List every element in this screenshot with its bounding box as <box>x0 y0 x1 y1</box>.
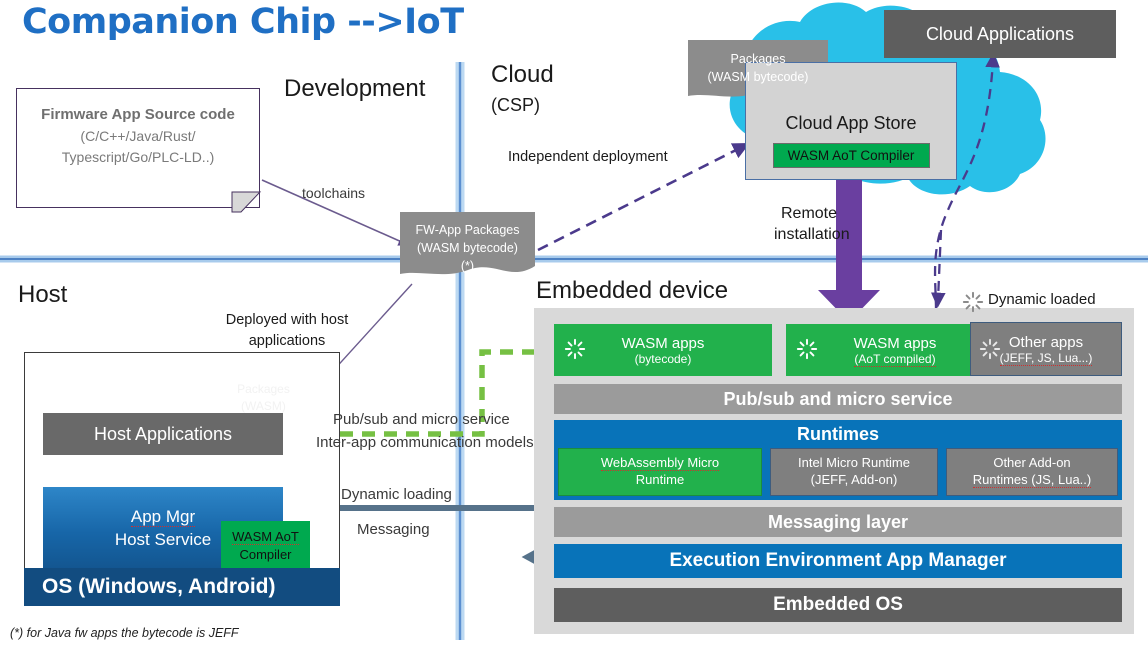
runtime-line1: Other Add-on <box>993 455 1070 472</box>
arrow-remote-installation <box>818 176 880 322</box>
embedded-app-sub: (AoT compiled) <box>854 352 935 366</box>
host-os-bar: OS (Windows, Android) <box>24 568 340 606</box>
embedded-messaging-layer-label: Messaging layer <box>768 512 908 533</box>
label-deployed-with-host-applications: Deployed with host applications <box>221 310 353 352</box>
label-dynamic-loading: Dynamic loading <box>341 486 452 503</box>
fw-packages-line1: FW-App Packages <box>400 221 535 239</box>
host-wasm-aot-compiler[interactable]: WASM AoT Compiler <box>221 521 310 571</box>
host-os-label: OS (Windows, Android) <box>42 575 276 599</box>
cloud-applications-box[interactable]: Cloud Applications <box>884 10 1116 58</box>
zone-label-cloud: Cloud <box>491 61 554 89</box>
embedded-app-sub: (JEFF, JS, Lua...) <box>1000 351 1093 365</box>
fw-packages-line3: (*) <box>400 257 535 275</box>
embedded-pubsub-label: Pub/sub and micro service <box>723 389 952 410</box>
dynamic-loaded-icon <box>979 338 1001 360</box>
host-app-mgr-line1: App Mgr <box>131 506 195 529</box>
embedded-app-name: WASM apps <box>854 335 937 352</box>
host-packages-line1: Packages <box>206 381 321 398</box>
embedded-app-manager-label: Execution Environment App Manager <box>669 550 1006 572</box>
embedded-runtimes-block: Runtimes WebAssembly Micro Runtime Intel… <box>554 420 1122 500</box>
host-aot-line1: WASM AoT <box>232 528 299 546</box>
cloud-wasm-aot-compiler-label: WASM AoT Compiler <box>788 148 915 163</box>
runtime-line2: Runtimes (JS, Lua..) <box>973 472 1092 489</box>
embedded-runtime-wamr[interactable]: WebAssembly Micro Runtime <box>558 448 762 496</box>
label-independent-deployment: Independent deployment <box>508 149 668 165</box>
embedded-app-name: WASM apps <box>622 335 705 352</box>
zone-label-host: Host <box>18 281 67 309</box>
embedded-runtime-other[interactable]: Other Add-on Runtimes (JS, Lua..) <box>946 448 1118 496</box>
embedded-app-manager[interactable]: Execution Environment App Manager <box>554 544 1122 578</box>
runtime-line1: WebAssembly Micro <box>601 455 719 472</box>
embedded-os: Embedded OS <box>554 588 1122 622</box>
embedded-app-other[interactable]: Other apps (JEFF, JS, Lua...) <box>970 322 1122 376</box>
embedded-runtimes-title: Runtimes <box>554 422 1122 446</box>
footnote: (*) for Java fw apps the bytecode is JEF… <box>10 626 239 640</box>
host-packages-line2: (WASM) <box>206 398 321 415</box>
fw-app-packages-callout: FW-App Packages (WASM bytecode) (*) <box>400 212 535 280</box>
firmware-source-line2: Typescript/Go/PLC-LD..) <box>17 147 259 168</box>
label-remote-installation: Remote installation <box>774 204 844 246</box>
firmware-source-heading: Firmware App Source code <box>17 106 259 123</box>
label-pubsub-micro-service: Pub/sub and micro service <box>333 411 510 428</box>
cloud-wasm-aot-compiler[interactable]: WASM AoT Compiler <box>773 143 930 168</box>
embedded-messaging-layer: Messaging layer <box>554 507 1122 537</box>
host-aot-line2: Compiler <box>239 546 291 564</box>
firmware-source-box: Firmware App Source code (C/C++/Java/Rus… <box>16 88 260 208</box>
dynamic-loaded-legend-icon <box>962 291 984 313</box>
slide-canvas: Companion Chip -->IoT Development Cloud … <box>0 0 1148 653</box>
dynamic-loaded-icon <box>564 338 586 360</box>
host-applications-box[interactable]: Host Applications <box>43 413 283 455</box>
embedded-device-panel: WASM apps (bytecode) WASM apps (AoT comp… <box>534 308 1134 634</box>
zone-label-development: Development <box>284 75 425 103</box>
page-title: Companion Chip -->IoT <box>22 2 662 42</box>
embedded-os-label: Embedded OS <box>773 594 903 616</box>
zone-label-cloud-sub: (CSP) <box>491 95 540 116</box>
cloud-applications-label: Cloud Applications <box>926 24 1074 45</box>
embedded-pubsub-bar: Pub/sub and micro service <box>554 384 1122 414</box>
embedded-runtime-intel[interactable]: Intel Micro Runtime (JEFF, Add-on) <box>770 448 938 496</box>
cloud-packages-line2: (WASM bytecode) <box>688 68 828 86</box>
host-applications-label: Host Applications <box>94 424 232 445</box>
runtime-line2: (JEFF, Add-on) <box>811 472 898 489</box>
host-app-mgr-line2: Host Service <box>115 529 211 552</box>
fw-packages-line2: (WASM bytecode) <box>400 239 535 257</box>
embedded-app-name: Other apps <box>1009 334 1083 351</box>
cloud-packages-line1: Packages <box>688 50 828 68</box>
embedded-app-sub: (bytecode) <box>635 352 692 366</box>
runtime-line2: Runtime <box>636 472 684 489</box>
cloud-app-store-title: Cloud App Store <box>746 113 956 134</box>
zone-label-embedded-device: Embedded device <box>536 277 728 305</box>
runtime-line1: Intel Micro Runtime <box>798 455 910 472</box>
firmware-source-line1: (C/C++/Java/Rust/ <box>17 126 259 147</box>
label-toolchains: toolchains <box>302 185 365 201</box>
dynamic-loaded-icon <box>796 338 818 360</box>
label-inter-app-communication: Inter-app communication models <box>316 434 534 451</box>
label-dynamic-loaded: Dynamic loaded <box>988 291 1096 308</box>
label-messaging: Messaging <box>357 521 430 538</box>
embedded-app-wasm-bytecode[interactable]: WASM apps (bytecode) <box>554 324 772 376</box>
arrow-cloud-to-device <box>938 230 941 300</box>
